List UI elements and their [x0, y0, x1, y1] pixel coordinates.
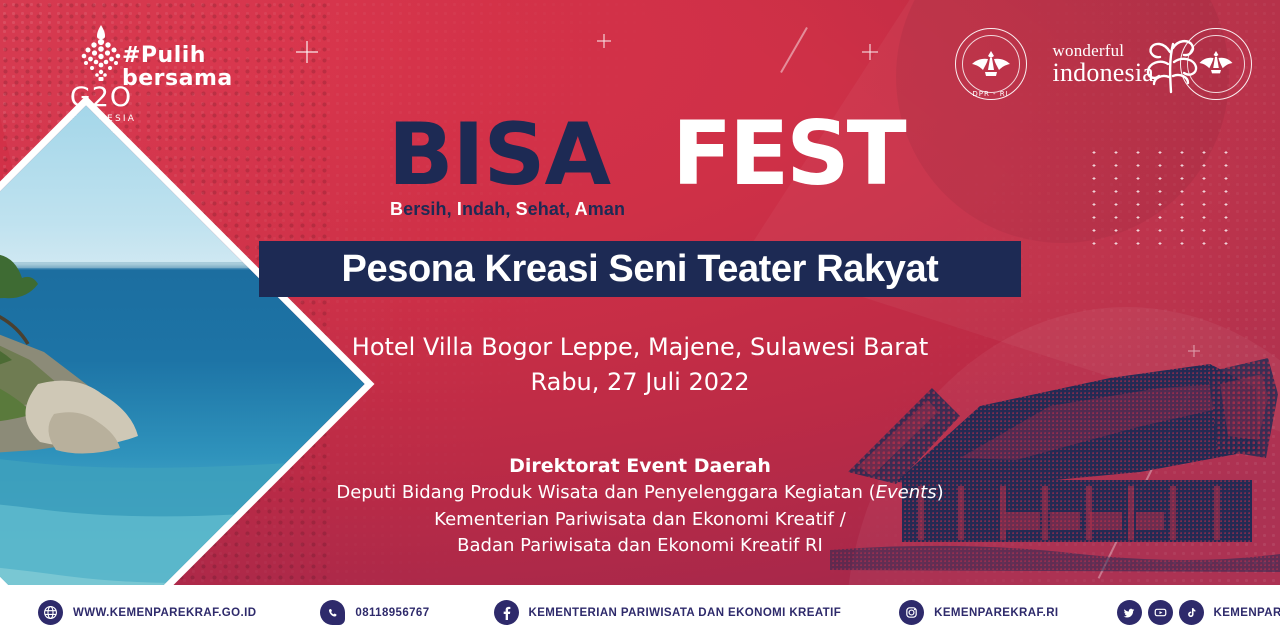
facebook-label: KEMENTERIAN PARIWISATA DAN EKONOMI KREAT… — [529, 607, 842, 619]
footer-facebook[interactable]: KEMENTERIAN PARIWISATA DAN EKONOMI KREAT… — [494, 600, 842, 625]
globe-icon — [38, 600, 63, 625]
fest-wordmark: FEST — [672, 110, 904, 198]
whatsapp-label: 08118956767 — [355, 607, 429, 619]
ministry-seal-logo — [1180, 28, 1252, 100]
social-label: KEMENPAREKRAF — [1214, 607, 1280, 619]
organizer-line-4: Badan Pariwisata dan Ekonomi Kreatif RI — [0, 533, 1280, 560]
acronym-letter-b: B — [390, 199, 403, 219]
hashtag-line-2: bersama — [122, 67, 233, 90]
organizer-block: Direktorat Event Daerah Deputi Bidang Pr… — [0, 452, 1280, 560]
event-headline: Pesona Kreasi Seni Teater Rakyat — [342, 248, 939, 291]
organizer-line-1: Direktorat Event Daerah — [0, 452, 1280, 480]
social-icon-group — [1117, 600, 1204, 625]
dpr-ri-seal-logo: DPR - RI — [955, 28, 1027, 100]
garuda-icon — [1180, 28, 1252, 100]
plus-mark-icon — [597, 34, 611, 48]
wonderful-text: wonderful — [1053, 42, 1154, 59]
youtube-icon[interactable] — [1148, 600, 1173, 625]
organizer-line-2-a: Deputi Bidang Produk Wisata dan Penyelen… — [336, 482, 875, 503]
event-headline-bar: Pesona Kreasi Seni Teater Rakyat — [259, 241, 1021, 297]
organizer-line-2: Deputi Bidang Produk Wisata dan Penyelen… — [0, 480, 1280, 507]
indonesia-text: indonesia — [1053, 59, 1154, 86]
footer-bar: WWW.KEMENPAREKRAF.GO.ID 08118956767 KEME… — [0, 585, 1280, 640]
facebook-icon — [494, 600, 519, 625]
acronym-rest-bersih: ersih, — [403, 199, 457, 219]
footer-instagram[interactable]: KEMENPAREKRAF.RI — [899, 600, 1058, 625]
dpr-ri-label: DPR - RI — [972, 90, 1008, 98]
bisa-wordmark: BISA — [388, 112, 610, 198]
footer-website[interactable]: WWW.KEMENPAREKRAF.GO.ID — [38, 600, 256, 625]
hashtag-pulih-bersama: #Pulih bersama — [122, 44, 233, 90]
wonderful-indonesia-logo: wonderful indonesia — [1053, 42, 1154, 86]
acronym-rest-indah: ndah, — [462, 199, 516, 219]
website-label: WWW.KEMENPAREKRAF.GO.ID — [73, 607, 256, 619]
organizer-line-2-b: ) — [937, 482, 944, 503]
footer-whatsapp[interactable]: 08118956767 — [320, 600, 429, 625]
acronym-letter-s: S — [516, 199, 528, 219]
twitter-icon[interactable] — [1117, 600, 1142, 625]
whatsapp-icon — [320, 600, 345, 625]
organizer-events-italic: Events — [876, 482, 937, 503]
footer-social-cluster[interactable]: KEMENPAREKRAF — [1117, 600, 1280, 625]
partner-logos: DPR - RI wonderful indonesia — [955, 28, 1252, 100]
acronym-letter-a: A — [575, 199, 588, 219]
event-banner: G2O INDONESIA 2022 #Pulih bersama DPR - … — [0, 0, 1280, 640]
plus-mark-icon — [862, 44, 878, 60]
bisa-acronym-tagline: Bersih, Indah, Sehat, Aman — [390, 199, 625, 220]
organizer-line-3: Kementerian Pariwisata dan Ekonomi Kreat… — [0, 507, 1280, 534]
plus-mark-icon — [296, 41, 318, 63]
hashtag-line-1: #Pulih — [122, 44, 233, 67]
dot-grid-decoration — [1083, 146, 1235, 250]
instagram-label: KEMENPAREKRAF.RI — [934, 607, 1058, 619]
acronym-rest-aman: man — [588, 199, 625, 219]
acronym-rest-sehat: ehat, — [528, 199, 575, 219]
tiktok-icon[interactable] — [1179, 600, 1204, 625]
instagram-icon — [899, 600, 924, 625]
